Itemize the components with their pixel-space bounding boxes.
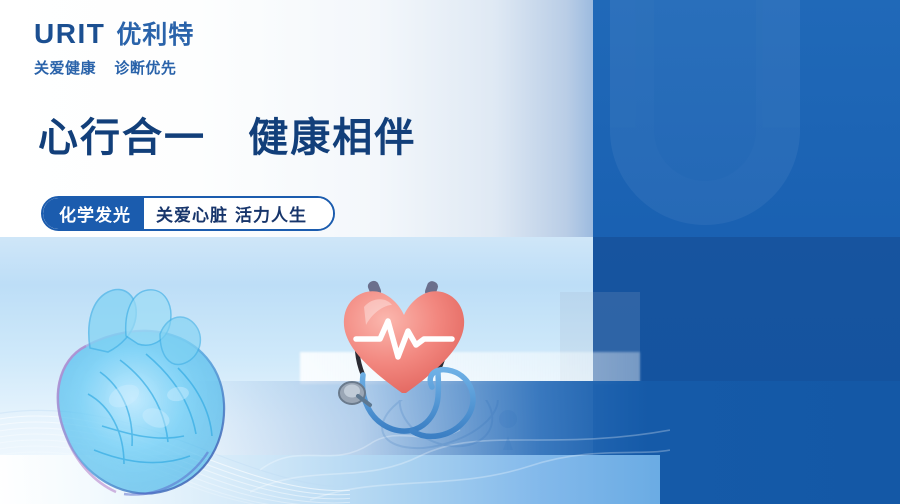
subtitle-pill-slogan: 关爱心脏 活力人生 xyxy=(144,198,333,229)
headline-part2: 健康相伴 xyxy=(248,116,416,160)
brand-name-en: URIT xyxy=(34,20,105,48)
subtitle-slogan-part2: 活力人生 xyxy=(235,201,307,226)
brand-name-cn: 优利特 xyxy=(116,23,194,48)
promo-banner: URIT 优利特 关爱健康 诊断优先 心行合一 健康相伴 化学发光 关爱心脏 活… xyxy=(0,0,900,504)
headline-part1: 心行合一 xyxy=(38,116,206,160)
brand-tagline-part1: 关爱健康 xyxy=(34,60,96,77)
subtitle-pill: 化学发光 关爱心脏 活力人生 xyxy=(41,196,335,231)
subtitle-slogan-part1: 关爱心脏 xyxy=(156,201,228,226)
heart-stethoscope-graphic xyxy=(320,265,510,445)
subtitle-pill-tag: 化学发光 xyxy=(43,198,144,229)
brand-tagline: 关爱健康 诊断优先 xyxy=(34,57,194,78)
brand-logo-names: URIT 优利特 xyxy=(34,20,194,48)
brand-logo[interactable]: URIT 优利特 关爱健康 诊断优先 xyxy=(34,20,194,78)
watermark-letter-u-inner-icon xyxy=(654,0,756,181)
page-title: 心行合一 健康相伴 xyxy=(38,116,416,160)
brand-tagline-part2: 诊断优先 xyxy=(114,60,176,77)
anatomical-heart-graphic xyxy=(28,286,253,504)
